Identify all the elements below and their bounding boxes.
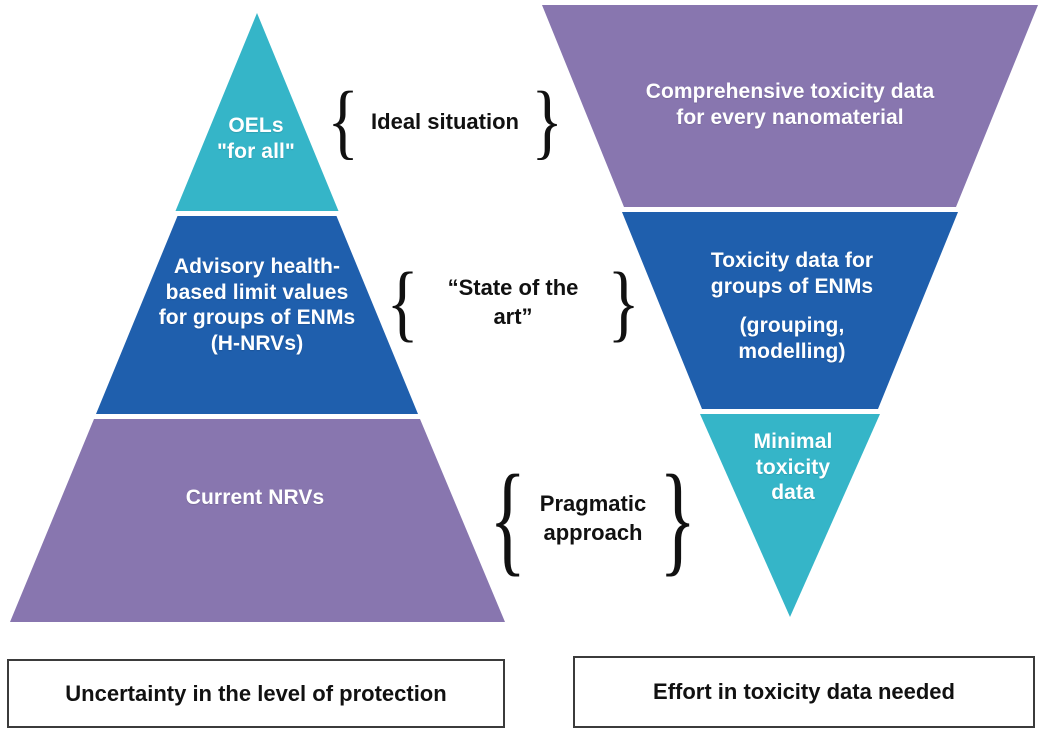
left-pyramid-tier-middle [96, 216, 418, 414]
caption-right-label: Effort in toxicity data needed [653, 679, 955, 705]
annotation-pragmatic-approach-label: Pragmatic approach [540, 490, 646, 547]
right-funnel-tier-top [542, 5, 1038, 207]
left-pyramid-tier-bottom [10, 419, 505, 622]
caption-box-uncertainty: Uncertainty in the level of protection [7, 659, 505, 728]
right-curly-brace-icon: } [607, 263, 639, 342]
caption-box-effort: Effort in toxicity data needed [573, 656, 1035, 728]
right-curly-brace-icon: } [659, 462, 696, 576]
figure-canvas: OELs "for all" Advisory health- based li… [0, 0, 1050, 738]
annotation-state-of-the-art: { “State of the art” } [382, 256, 644, 350]
right-curly-brace-icon: } [531, 83, 562, 160]
left-curly-brace-icon: { [327, 83, 358, 160]
right-funnel-tier-middle [622, 212, 958, 409]
left-pyramid-tier-top [176, 13, 339, 211]
annotation-pragmatic-approach: { Pragmatic approach } [476, 452, 710, 586]
annotation-ideal-situation: { Ideal situation } [318, 76, 572, 168]
annotation-state-of-the-art-label: “State of the art” [429, 274, 596, 331]
left-curly-brace-icon: { [490, 462, 527, 576]
annotation-ideal-situation-label: Ideal situation [371, 108, 519, 137]
left-curly-brace-icon: { [387, 263, 419, 342]
caption-left-label: Uncertainty in the level of protection [65, 681, 446, 707]
right-funnel-tier-bottom [700, 414, 880, 617]
